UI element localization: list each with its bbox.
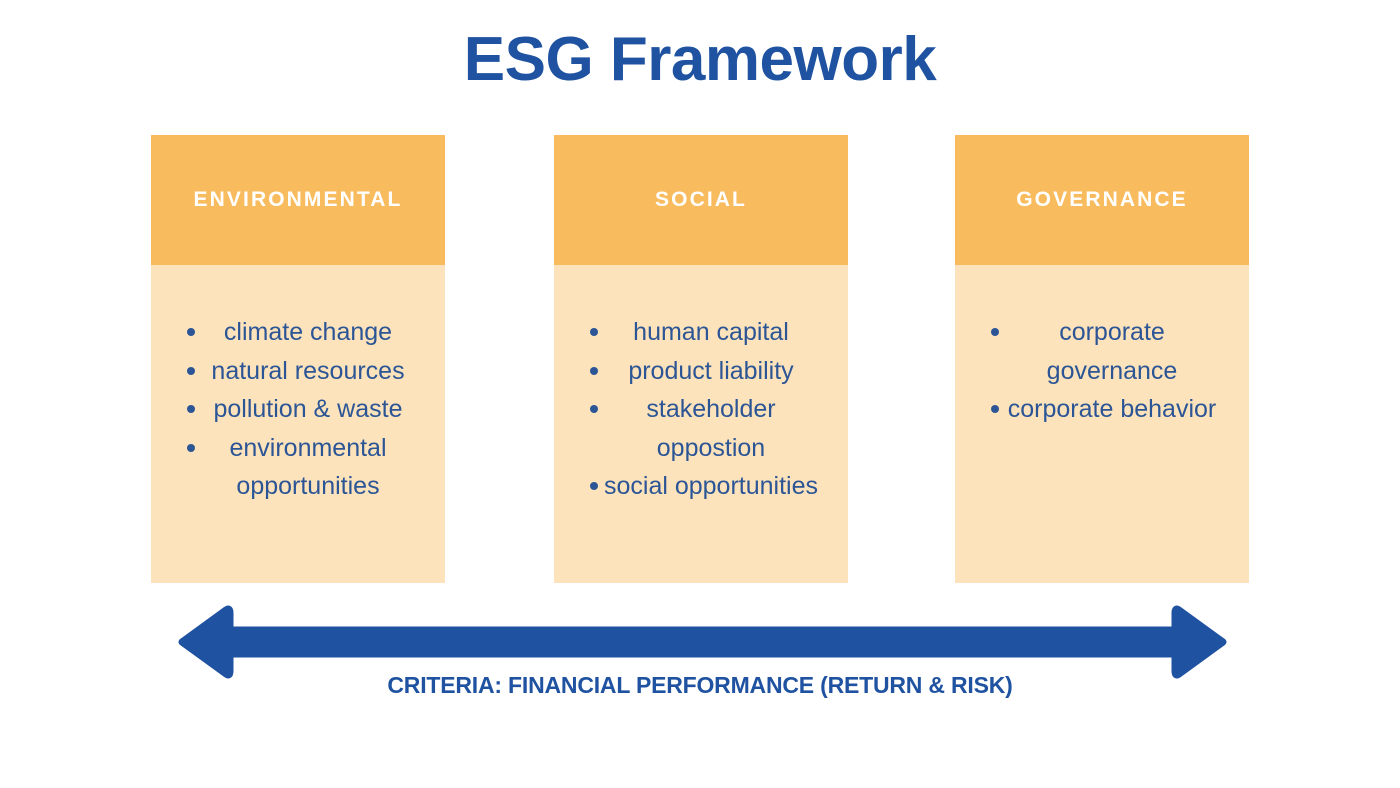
pillar-list-environmental: climate change natural resources polluti… — [151, 313, 445, 506]
pillar-header-band-governance: GOVERNANCE — [955, 135, 1249, 265]
pillar-columns: ENVIRONMENTAL climate change natural res… — [151, 135, 1249, 583]
pillar-header-label-environmental: ENVIRONMENTAL — [151, 135, 445, 265]
list-item: climate change — [151, 313, 445, 352]
pillar-header-label-governance: GOVERNANCE — [955, 135, 1249, 265]
pillar-body-governance: corporate governance corporate behavior — [955, 265, 1249, 583]
bullet-icon — [187, 328, 195, 336]
bullet-icon — [991, 405, 999, 413]
double-headed-arrow-icon — [170, 604, 1235, 680]
arrow-caption: CRITERIA: FINANCIAL PERFORMANCE (RETURN … — [0, 672, 1400, 699]
pillar-body-social: human capital product liability stakehol… — [554, 265, 848, 583]
pillar-social: SOCIAL human capital product liability s — [554, 135, 848, 583]
list-item: social opportunities — [554, 467, 848, 506]
list-item-label: natural resources — [211, 357, 404, 385]
pillar-body-environmental: climate change natural resources polluti… — [151, 265, 445, 583]
list-item: environmental opportunities — [151, 429, 445, 506]
criteria-arrow — [170, 604, 1235, 680]
bullet-icon — [590, 328, 598, 336]
pillar-list-social: human capital product liability stakehol… — [554, 313, 848, 506]
list-item-label: corporate behavior — [1008, 395, 1216, 423]
bullet-icon — [187, 367, 195, 375]
list-item: stakeholder oppostion — [554, 390, 848, 467]
pillar-header-band-social: SOCIAL — [554, 135, 848, 265]
bullet-icon — [590, 405, 598, 413]
bullet-icon — [187, 444, 195, 452]
slide-canvas: ESG Framework ENVIRONMENTAL climate chan… — [0, 0, 1400, 788]
pillar-environmental: ENVIRONMENTAL climate change natural res… — [151, 135, 445, 583]
list-item-label: environmental opportunities — [229, 434, 386, 501]
bullet-icon — [991, 328, 999, 336]
pillar-header-band-environmental: ENVIRONMENTAL — [151, 135, 445, 265]
page-title: ESG Framework — [0, 26, 1400, 94]
bullet-icon — [590, 482, 598, 490]
list-item: natural resources — [151, 352, 445, 391]
pillar-governance: GOVERNANCE corporate governance corporat… — [955, 135, 1249, 583]
list-item-label: human capital — [633, 318, 789, 346]
list-item: product liability — [554, 352, 848, 391]
pillar-list-governance: corporate governance corporate behavior — [955, 313, 1249, 429]
list-item-label: product liability — [628, 357, 793, 385]
list-item: corporate behavior — [955, 390, 1249, 429]
list-item: human capital — [554, 313, 848, 352]
pillar-header-label-social: SOCIAL — [554, 135, 848, 265]
list-item: pollution & waste — [151, 390, 445, 429]
list-item-label: stakeholder oppostion — [646, 395, 775, 462]
list-item-label: pollution & waste — [213, 395, 402, 423]
bullet-icon — [187, 405, 195, 413]
list-item-label: corporate governance — [1047, 318, 1178, 385]
list-item: corporate governance — [955, 313, 1249, 390]
bullet-icon — [590, 367, 598, 375]
list-item-label: social opportunities — [604, 472, 818, 500]
list-item-label: climate change — [224, 318, 392, 346]
